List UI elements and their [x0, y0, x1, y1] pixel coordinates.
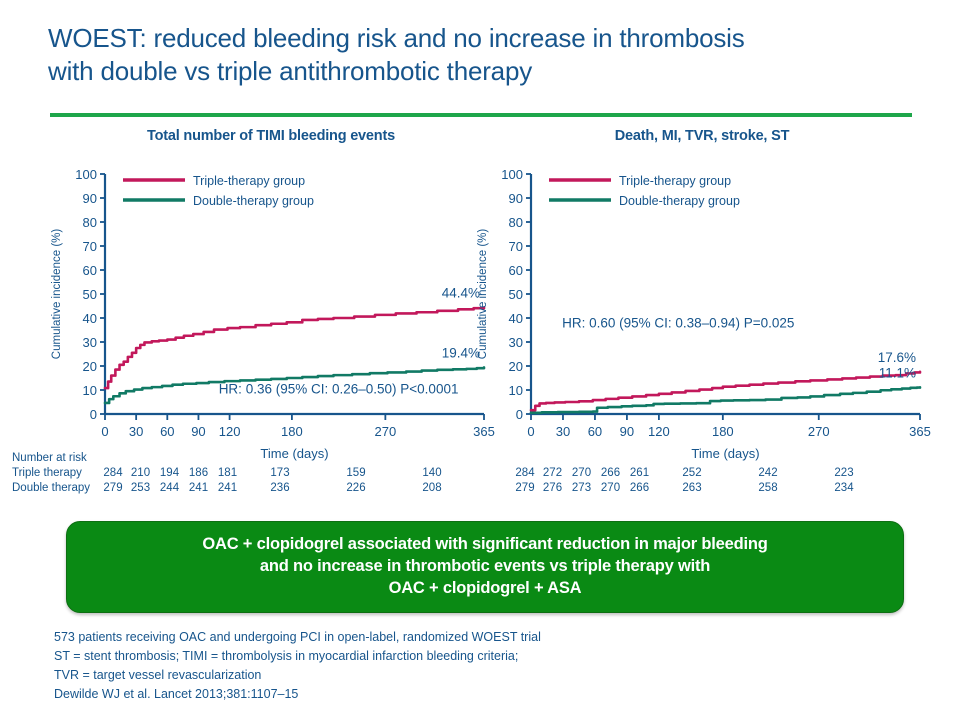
svg-text:Double-therapy group: Double-therapy group — [619, 194, 740, 208]
footnote-line-2: ST = stent thrombosis; TIMI = thrombolys… — [54, 647, 934, 666]
risk-row-label — [488, 481, 512, 496]
svg-text:HR: 0.36 (95% CI: 0.26–0.50) P: HR: 0.36 (95% CI: 0.26–0.50) P<0.0001 — [219, 382, 459, 397]
banner-line-1: OAC + clopidogrel associated with signif… — [202, 534, 767, 556]
svg-text:17.6%: 17.6% — [878, 350, 916, 365]
svg-text:80: 80 — [509, 215, 523, 230]
risk-cell: 252 — [654, 466, 730, 481]
chart-title-right: Death, MI, TVR, stroke, ST — [472, 128, 932, 144]
banner-line-3: OAC + clopidogrel + ASA — [202, 578, 767, 600]
risk-cell: 241 — [213, 481, 242, 496]
risk-cell: 270 — [567, 466, 596, 481]
risk-cell: 241 — [184, 481, 213, 496]
svg-text:0: 0 — [527, 424, 534, 439]
svg-text:40: 40 — [509, 311, 523, 326]
svg-text:40: 40 — [83, 311, 97, 326]
svg-text:10: 10 — [509, 383, 523, 398]
risk-cell: 253 — [126, 481, 155, 496]
page-title-line-2: with double vs triple antithrombotic the… — [48, 55, 928, 88]
svg-text:90: 90 — [620, 424, 634, 439]
svg-text:120: 120 — [648, 424, 670, 439]
risk-cell: 270 — [596, 481, 625, 496]
risk-cell: 210 — [126, 466, 155, 481]
svg-text:50: 50 — [83, 287, 97, 302]
svg-text:60: 60 — [509, 263, 523, 278]
risk-cell: 261 — [625, 466, 654, 481]
table-row: Double therapy279253244241241236226208 — [12, 481, 470, 496]
risk-cell: 181 — [213, 466, 242, 481]
svg-text:70: 70 — [509, 239, 523, 254]
risk-cell: 159 — [318, 466, 394, 481]
svg-text:30: 30 — [509, 335, 523, 350]
footnote-line-1: 573 patients receiving OAC and undergoin… — [54, 628, 934, 647]
risk-cell: 279 — [100, 481, 126, 496]
svg-text:90: 90 — [191, 424, 205, 439]
svg-text:60: 60 — [160, 424, 174, 439]
risk-cell: 234 — [806, 481, 882, 496]
svg-text:270: 270 — [808, 424, 830, 439]
risk-row-label: Triple therapy — [12, 466, 100, 481]
svg-text:Cumulative incidence (%): Cumulative incidence (%) — [477, 229, 489, 360]
table-row: Triple therapy284210194186181173159140 — [12, 466, 470, 481]
svg-text:80: 80 — [83, 215, 97, 230]
risk-cell: 266 — [596, 466, 625, 481]
svg-text:Triple-therapy group: Triple-therapy group — [619, 174, 731, 188]
risk-cell: 279 — [512, 481, 538, 496]
footnote-citation: Dewilde WJ et al. Lancet 2013;381:1107–1… — [54, 685, 934, 704]
svg-text:Cumulative incidence (%): Cumulative incidence (%) — [51, 229, 63, 360]
chart-right-canvas: 0102030405060708090100030609012018027036… — [472, 146, 932, 476]
risk-cell: 284 — [512, 466, 538, 481]
svg-text:HR: 0.60 (95% CI: 0.38–0.94) P: HR: 0.60 (95% CI: 0.38–0.94) P=0.025 — [562, 316, 794, 331]
number-at-risk-left: Number at risk Triple therapy28421019418… — [12, 452, 470, 495]
svg-text:100: 100 — [75, 167, 97, 182]
number-at-risk-heading: Number at risk — [12, 452, 470, 464]
svg-text:70: 70 — [83, 239, 97, 254]
risk-cell: 226 — [318, 481, 394, 496]
svg-text:270: 270 — [375, 424, 397, 439]
svg-text:90: 90 — [83, 191, 97, 206]
risk-row-label — [488, 466, 512, 481]
svg-text:60: 60 — [588, 424, 602, 439]
footnote-line-3: TVR = target vessel revascularization — [54, 666, 934, 685]
risk-cell: 173 — [242, 466, 318, 481]
svg-text:Double-therapy group: Double-therapy group — [193, 194, 314, 208]
page-title-line-1: WOEST: reduced bleeding risk and no incr… — [48, 22, 928, 55]
risk-cell: 242 — [730, 466, 806, 481]
svg-text:90: 90 — [509, 191, 523, 206]
risk-cell: 194 — [155, 466, 184, 481]
svg-text:0: 0 — [516, 407, 523, 422]
risk-cell: 276 — [538, 481, 567, 496]
svg-text:Time (days): Time (days) — [691, 446, 759, 461]
svg-text:365: 365 — [909, 424, 931, 439]
table-row: 279276273270266263258234 — [488, 481, 882, 496]
svg-text:30: 30 — [129, 424, 143, 439]
risk-row-label: Double therapy — [12, 481, 100, 496]
svg-text:10: 10 — [83, 383, 97, 398]
number-at-risk-right: 2842722702662612522422232792762732702662… — [488, 466, 882, 495]
risk-cell: 258 — [730, 481, 806, 496]
conclusion-banner-text: OAC + clopidogrel associated with signif… — [188, 534, 781, 599]
svg-text:180: 180 — [712, 424, 734, 439]
conclusion-banner: OAC + clopidogrel associated with signif… — [66, 521, 904, 613]
page-title: WOEST: reduced bleeding risk and no incr… — [48, 22, 928, 89]
svg-text:0: 0 — [101, 424, 108, 439]
risk-cell: 272 — [538, 466, 567, 481]
risk-cell: 273 — [567, 481, 596, 496]
number-at-risk-table-right: 2842722702662612522422232792762732702662… — [488, 466, 882, 495]
svg-text:50: 50 — [509, 287, 523, 302]
svg-text:11.1%: 11.1% — [879, 365, 916, 380]
table-row: 284272270266261252242223 — [488, 466, 882, 481]
risk-cell: 140 — [394, 466, 470, 481]
svg-text:180: 180 — [281, 424, 303, 439]
title-divider — [50, 113, 912, 117]
number-at-risk-table-left: Triple therapy284210194186181173159140Do… — [12, 466, 470, 495]
svg-text:30: 30 — [556, 424, 570, 439]
chart-left-canvas: 0102030405060708090100030609012018027036… — [46, 146, 496, 476]
risk-cell: 236 — [242, 481, 318, 496]
svg-text:100: 100 — [501, 167, 523, 182]
svg-text:60: 60 — [83, 263, 97, 278]
svg-text:20: 20 — [509, 359, 523, 374]
svg-text:120: 120 — [219, 424, 241, 439]
risk-cell: 263 — [654, 481, 730, 496]
risk-cell: 208 — [394, 481, 470, 496]
risk-cell: 284 — [100, 466, 126, 481]
footnotes: 573 patients receiving OAC and undergoin… — [54, 628, 934, 704]
svg-text:0: 0 — [90, 407, 97, 422]
risk-cell: 186 — [184, 466, 213, 481]
svg-text:Triple-therapy group: Triple-therapy group — [193, 174, 305, 188]
chart-ischemic-events: Death, MI, TVR, stroke, ST 0102030405060… — [472, 124, 932, 514]
risk-cell: 244 — [155, 481, 184, 496]
risk-cell: 266 — [625, 481, 654, 496]
svg-text:30: 30 — [83, 335, 97, 350]
risk-cell: 223 — [806, 466, 882, 481]
chart-title-left: Total number of TIMI bleeding events — [46, 128, 496, 144]
banner-line-2: and no increase in thrombotic events vs … — [202, 556, 767, 578]
svg-text:20: 20 — [83, 359, 97, 374]
slide-root: WOEST: reduced bleeding risk and no incr… — [0, 0, 960, 720]
